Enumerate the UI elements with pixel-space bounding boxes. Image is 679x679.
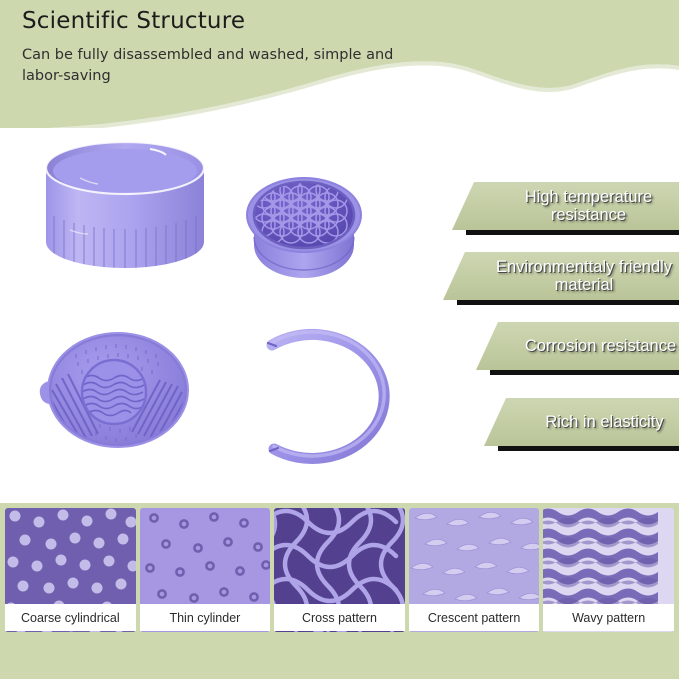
feature-banner-label: Environmenttaly friendly material: [477, 252, 679, 300]
product-infographic: Scientific Structure Can be fully disass…: [0, 0, 679, 679]
pattern-swatch-strip: Coarse cylindrical Thin cylinder Cross p…: [0, 503, 679, 679]
swatch-label-cross-pattern: Cross pattern: [274, 604, 405, 631]
feature-banner-environmentally-friendly-material[interactable]: Environmenttaly friendly material: [443, 252, 679, 304]
page-title: Scientific Structure: [22, 8, 245, 34]
page-subtitle: Can be fully disassembled and washed, si…: [22, 45, 422, 87]
swatch-label-wavy-pattern: Wavy pattern: [543, 604, 674, 631]
feature-banner-corrosion-resistance[interactable]: Corrosion resistance: [476, 322, 679, 374]
feature-banner-label: Corrosion resistance: [510, 322, 679, 370]
feature-banner-rich-in-elasticity[interactable]: Rich in elasticity: [484, 398, 679, 450]
feature-banner-label: High temperature resistance: [486, 182, 679, 230]
header-banner: Scientific Structure Can be fully disass…: [0, 0, 679, 135]
feature-banner-high-temperature-resistance[interactable]: High temperature resistance: [452, 182, 679, 234]
feature-banner-list: High temperature resistance Environmentt…: [0, 170, 679, 470]
swatch-label-crescent-pattern: Crescent pattern: [409, 604, 540, 631]
feature-banner-label: Rich in elasticity: [518, 398, 679, 446]
swatch-caption-row: Coarse cylindrical Thin cylinder Cross p…: [5, 604, 674, 631]
swatch-label-thin-cylinder: Thin cylinder: [140, 604, 271, 631]
swatch-label-coarse-cylindrical: Coarse cylindrical: [5, 604, 136, 631]
